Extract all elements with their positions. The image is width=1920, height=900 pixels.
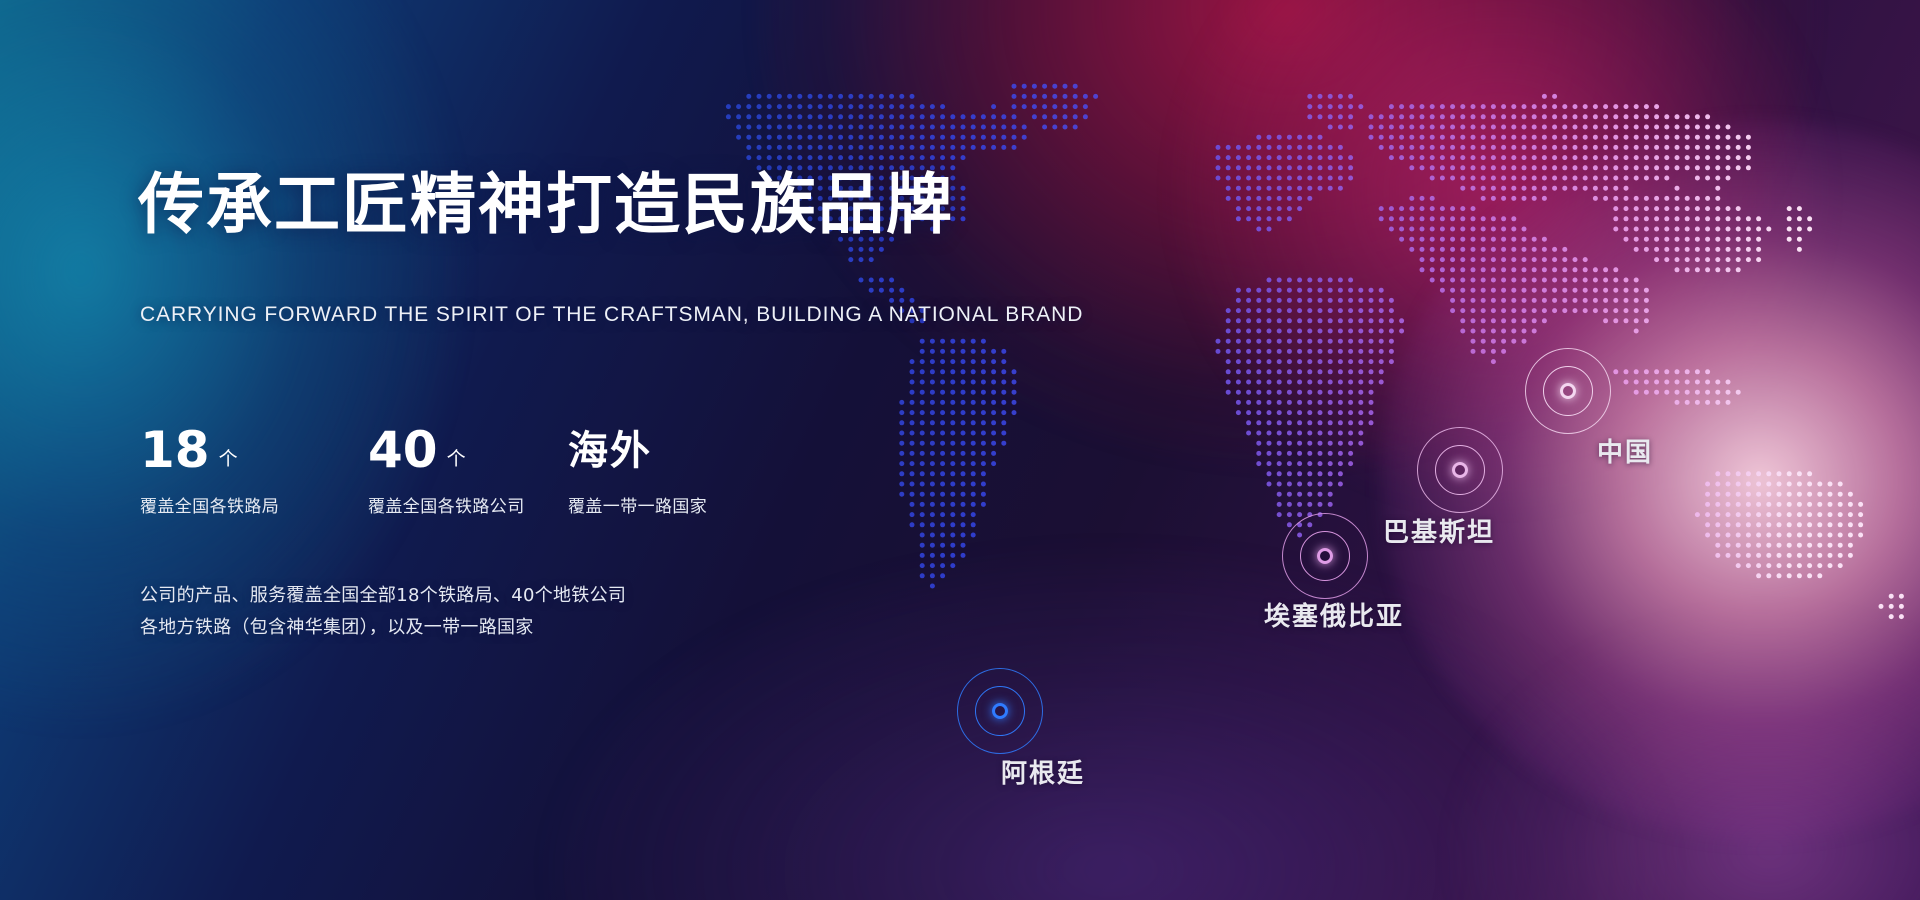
- description-text: 公司的产品、服务覆盖全国全部18个铁路局、40个地铁公司各地方铁路（包含神华集团…: [140, 580, 626, 644]
- stat-label: 覆盖一带一路国家: [568, 492, 707, 517]
- content-block: 传承工匠精神打造民族品牌 CARRYING FORWARD THE SPIRIT…: [138, 0, 1038, 900]
- map-marker-label-ethiopia: 埃塞俄比亚: [1264, 596, 1404, 633]
- description-line: 各地方铁路（包含神华集团），以及一带一路国家: [140, 612, 626, 644]
- stat-label: 覆盖全国各铁路局: [140, 492, 368, 517]
- stat-value: 海外: [568, 424, 652, 478]
- stat-value: 40: [368, 424, 438, 476]
- stat-unit: 个: [219, 444, 238, 471]
- page-subtitle: CARRYING FORWARD THE SPIRIT OF THE CRAFT…: [140, 303, 1083, 327]
- stat-label: 覆盖全国各铁路公司: [368, 492, 568, 517]
- stat-item: 18个覆盖全国各铁路局: [140, 424, 368, 517]
- stat-item: 海外覆盖一带一路国家: [568, 424, 707, 517]
- stat-unit: 个: [447, 444, 466, 471]
- stats-row: 18个覆盖全国各铁路局40个覆盖全国各铁路公司海外覆盖一带一路国家: [140, 424, 707, 517]
- map-marker-label-pakistan: 巴基斯坦: [1383, 512, 1495, 549]
- description-line: 公司的产品、服务覆盖全国全部18个铁路局、40个地铁公司: [140, 580, 626, 612]
- map-marker-label-china: 中国: [1597, 432, 1653, 469]
- banner-stage: 中国巴基斯坦埃塞俄比亚阿根廷 传承工匠精神打造民族品牌 CARRYING FOR…: [0, 0, 1920, 900]
- stat-item: 40个覆盖全国各铁路公司: [368, 424, 568, 517]
- stat-value: 18: [140, 424, 210, 476]
- page-title: 传承工匠精神打造民族品牌: [138, 172, 954, 238]
